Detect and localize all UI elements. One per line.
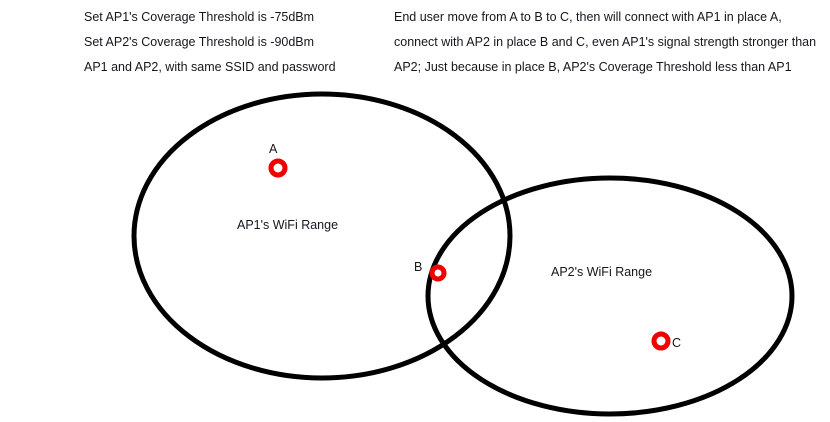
point-marker-a	[271, 161, 285, 175]
point-label-b: B	[414, 261, 422, 274]
point-marker-c	[654, 334, 668, 348]
venn-diagram	[0, 0, 830, 422]
ap2-range-ellipse	[428, 178, 792, 414]
diagram-canvas: Set AP1's Coverage Threshold is -75dBm S…	[0, 0, 830, 422]
coverage-ellipse-ap2	[428, 178, 792, 414]
point-label-c: C	[672, 337, 681, 350]
point-label-a: A	[269, 143, 277, 156]
ap1-range-label: AP1's WiFi Range	[237, 218, 338, 232]
ap2-range-label: AP2's WiFi Range	[551, 265, 652, 279]
point-marker-b	[432, 267, 444, 279]
